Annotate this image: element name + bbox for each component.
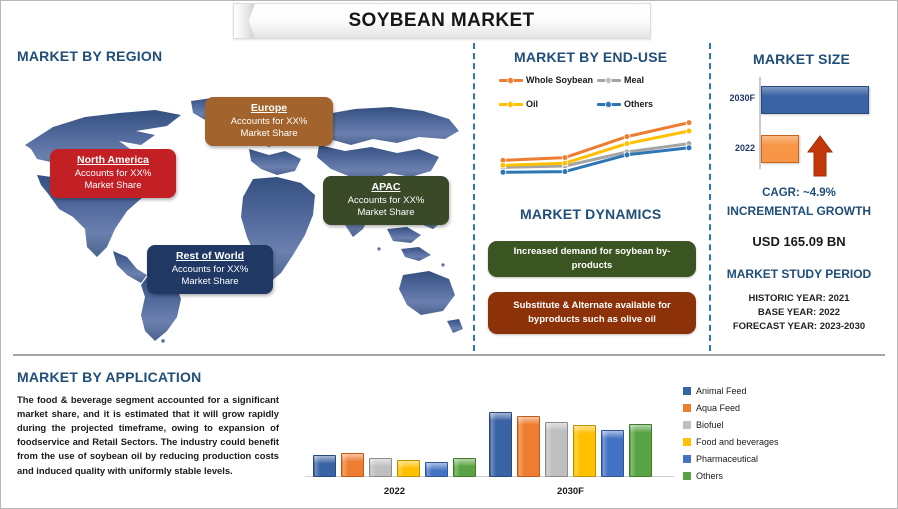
region-name: Rest of World [155, 250, 265, 263]
region-callout-apac[interactable]: APAC Accounts for XX% Market Share [323, 176, 449, 225]
legend-label: Animal Feed [696, 386, 747, 396]
bar-2022-5 [453, 458, 476, 477]
cagr-label: CAGR: ~4.9% [701, 187, 897, 199]
region-callout-north-america[interactable]: North America Accounts for XX% Market Sh… [50, 149, 176, 198]
incremental-growth-value: USD 165.09 BN [701, 234, 897, 249]
line-marker [624, 152, 630, 158]
market-size-bar-label: 2022 [717, 143, 755, 153]
study-period-forecast: FORECAST YEAR: 2023-2030 [701, 320, 897, 335]
legend-label: Others [624, 99, 653, 109]
region-callout-rest-of-world[interactable]: Rest of World Accounts for XX% Market Sh… [147, 245, 273, 294]
region-share-line2: Market Share [58, 180, 168, 192]
legend-swatch-icon [683, 438, 691, 446]
bar-2030f-1 [517, 416, 540, 477]
bar-2022-3 [397, 460, 420, 477]
market-size-bar-label: 2030F [717, 93, 755, 103]
bar-2022-1 [341, 453, 364, 477]
application-bar-chart: 20222030F [301, 379, 676, 499]
bar-2030f-0 [489, 412, 512, 477]
legend-item-biofuel[interactable]: Biofuel [683, 420, 779, 430]
axis-tick-label: 2022 [360, 486, 430, 497]
legend-label: Food and beverages [696, 437, 779, 447]
legend-label: Oil [526, 99, 538, 109]
axis-tick-label: 2030F [536, 486, 606, 497]
line-marker [500, 162, 506, 168]
dynamics-driver-text: Increased demand for soybean by-products [498, 245, 686, 273]
growth-arrow-icon [807, 135, 833, 177]
line-marker [562, 169, 568, 175]
legend-label: Biofuel [696, 420, 724, 430]
page-title: SOYBEAN MARKET [348, 10, 534, 32]
region-callout-europe[interactable]: Europe Accounts for XX% Market Share [205, 97, 333, 146]
dynamics-driver-box[interactable]: Increased demand for soybean by-products [488, 241, 696, 277]
legend-label: Pharmaceutical [696, 454, 758, 464]
bar-2030f-4 [601, 430, 624, 477]
legend-label: Aqua Feed [696, 403, 740, 413]
bar-2030f-5 [629, 424, 652, 477]
region-share-line2: Market Share [213, 128, 325, 140]
title-banner: SOYBEAN MARKET [233, 3, 651, 39]
legend-label: Whole Soybean [526, 75, 593, 85]
legend-marker-line-icon [597, 75, 621, 85]
market-size-bar-2022 [761, 135, 799, 163]
region-share-line1: Accounts for XX% [155, 264, 265, 276]
legend-item-oil[interactable]: Oil [499, 99, 597, 109]
legend-item-animal-feed[interactable]: Animal Feed [683, 386, 779, 396]
section-title-dynamics: MARKET DYNAMICS [520, 206, 661, 222]
bar-2022-4 [425, 462, 448, 478]
study-period-historic: HISTORIC YEAR: 2021 [701, 292, 897, 307]
legend-swatch-icon [683, 472, 691, 480]
legend-swatch-icon [683, 387, 691, 395]
region-share-line2: Market Share [331, 207, 441, 219]
enduse-line-chart [497, 113, 697, 193]
legend-marker-line-icon [499, 75, 523, 85]
enduse-legend: Whole Soybean Meal Oil Others [499, 75, 695, 109]
region-name: APAC [331, 181, 441, 194]
legend-item-others[interactable]: Others [683, 471, 779, 481]
legend-label: Others [696, 471, 723, 481]
line-marker [562, 155, 568, 161]
study-period-heading: MARKET STUDY PERIOD [701, 267, 897, 281]
application-legend: Animal FeedAqua FeedBiofuelFood and beve… [683, 386, 779, 481]
legend-item-meal[interactable]: Meal [597, 75, 695, 85]
region-share-line1: Accounts for XX% [213, 116, 325, 128]
divider-horizontal [13, 354, 885, 356]
legend-swatch-icon [683, 421, 691, 429]
legend-marker-line-icon [597, 99, 621, 109]
section-title-application: MARKET BY APPLICATION [17, 369, 201, 385]
region-share-line2: Market Share [155, 276, 265, 288]
line-marker [624, 134, 630, 140]
legend-item-aqua-feed[interactable]: Aqua Feed [683, 403, 779, 413]
legend-swatch-icon [683, 455, 691, 463]
section-title-region: MARKET BY REGION [17, 48, 162, 64]
line-marker [686, 128, 692, 134]
legend-item-others[interactable]: Others [597, 99, 695, 109]
legend-marker-line-icon [499, 99, 523, 109]
bar-2030f-3 [573, 425, 596, 477]
bar-2022-2 [369, 458, 392, 477]
line-marker [562, 160, 568, 166]
line-marker [686, 145, 692, 151]
bar-2022-0 [313, 455, 336, 477]
region-name: Europe [213, 102, 325, 115]
region-share-line1: Accounts for XX% [331, 195, 441, 207]
incremental-growth-heading: INCREMENTAL GROWTH [701, 204, 897, 218]
line-marker [500, 169, 506, 175]
legend-item-food-and-beverages[interactable]: Food and beverages [683, 437, 779, 447]
section-title-enduse: MARKET BY END-USE [514, 49, 667, 65]
dynamics-restraint-text: Substitute & Alternate available for byp… [498, 299, 686, 327]
market-size-bar-2030f [761, 86, 869, 114]
region-name: North America [58, 154, 168, 167]
dynamics-restraint-box[interactable]: Substitute & Alternate available for byp… [488, 292, 696, 334]
legend-item-whole-soybean[interactable]: Whole Soybean [499, 75, 597, 85]
legend-swatch-icon [683, 404, 691, 412]
infographic-canvas: SOYBEAN MARKET MARKET BY REGION [0, 0, 898, 509]
application-paragraph: The food & beverage segment accounted fo… [17, 393, 279, 478]
market-size-chart: 2030F 2022 [717, 77, 889, 169]
region-share-line1: Accounts for XX% [58, 168, 168, 180]
legend-item-pharmaceutical[interactable]: Pharmaceutical [683, 454, 779, 464]
line-marker [624, 141, 630, 147]
divider-vertical-left [473, 43, 475, 351]
study-period-base: BASE YEAR: 2022 [701, 306, 897, 321]
bar-2030f-2 [545, 422, 568, 478]
line-marker [686, 120, 692, 126]
section-title-market-size: MARKET SIZE [753, 51, 850, 67]
legend-label: Meal [624, 75, 644, 85]
